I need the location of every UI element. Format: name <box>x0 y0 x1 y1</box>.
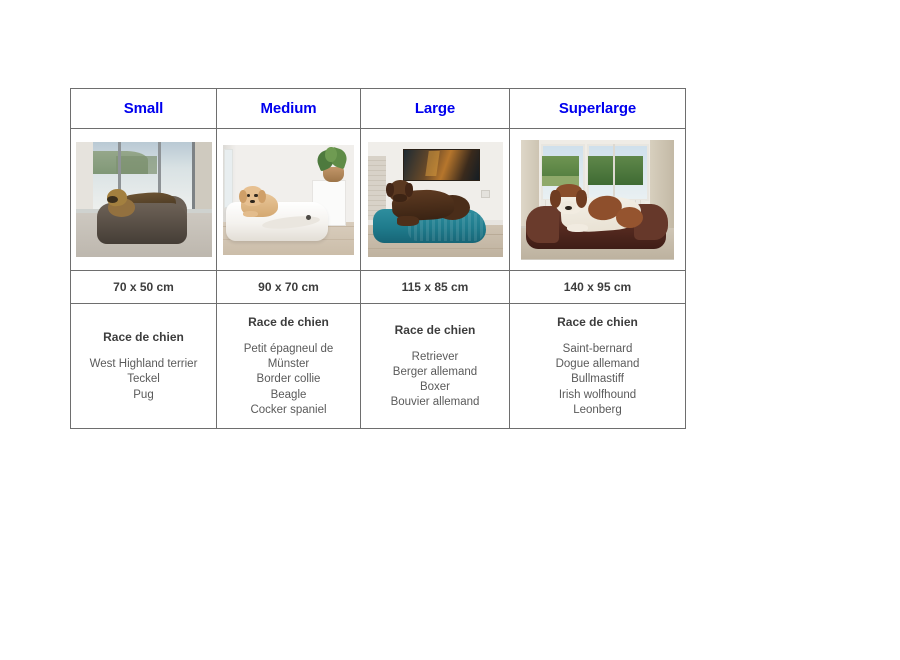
photo-row <box>71 129 686 271</box>
list-item: Beagle <box>221 388 356 403</box>
dimensions-row: 70 x 50 cm 90 x 70 cm 115 x 85 cm 140 x … <box>71 271 686 304</box>
breed-list-small: West Highland terrier Teckel Pug <box>75 357 212 403</box>
list-item: Retriever <box>365 350 505 365</box>
breed-cell-large: Race de chien Retriever Berger allemand … <box>361 304 510 429</box>
photo-cell-small <box>71 129 217 271</box>
medium-dog-bed-photo <box>223 145 354 255</box>
breed-cell-superlarge: Race de chien Saint-bernard Dogue allema… <box>510 304 686 429</box>
size-label-small: Small <box>71 101 216 116</box>
breed-heading-medium: Race de chien <box>221 316 356 328</box>
list-item: Dogue allemand <box>514 357 681 372</box>
list-item: Saint-bernard <box>514 342 681 357</box>
large-dog-bed-photo <box>368 142 503 257</box>
list-item: Irish wolfhound <box>514 388 681 403</box>
superlarge-dog-bed-photo <box>521 140 674 260</box>
size-header-row: Small Medium Large Superlarge <box>71 89 686 129</box>
dimension-large: 115 x 85 cm <box>361 281 509 293</box>
size-label-superlarge: Superlarge <box>510 101 685 116</box>
list-item: West Highland terrier <box>75 357 212 372</box>
breed-list-superlarge: Saint-bernard Dogue allemand Bullmastiff… <box>514 342 681 418</box>
list-item: Bouvier allemand <box>365 395 505 410</box>
dimension-cell-large: 115 x 85 cm <box>361 271 510 304</box>
dimension-small: 70 x 50 cm <box>71 281 216 293</box>
size-label-large: Large <box>361 101 509 116</box>
small-dog-bed-photo <box>76 142 212 257</box>
breed-heading-superlarge: Race de chien <box>514 316 681 328</box>
list-item: Leonberg <box>514 403 681 418</box>
breed-heading-small: Race de chien <box>75 331 212 343</box>
dimension-medium: 90 x 70 cm <box>217 281 360 293</box>
list-item: Border collie <box>221 372 356 387</box>
list-item: Boxer <box>365 380 505 395</box>
breed-cell-small: Race de chien West Highland terrier Teck… <box>71 304 217 429</box>
photo-cell-superlarge <box>510 129 686 271</box>
dimension-superlarge: 140 x 95 cm <box>510 281 685 293</box>
list-item: Bullmastiff <box>514 372 681 387</box>
dimension-cell-small: 70 x 50 cm <box>71 271 217 304</box>
header-cell-small: Small <box>71 89 217 129</box>
dog-bed-size-table: Small Medium Large Superlarge <box>70 88 686 429</box>
list-item: Petit épagneul de <box>221 342 356 357</box>
breed-list-medium: Petit épagneul de Münster Border collie … <box>221 342 356 418</box>
breed-heading-large: Race de chien <box>365 324 505 336</box>
photo-cell-medium <box>217 129 361 271</box>
list-item: Pug <box>75 388 212 403</box>
dimension-cell-medium: 90 x 70 cm <box>217 271 361 304</box>
breed-list-large: Retriever Berger allemand Boxer Bouvier … <box>365 350 505 411</box>
header-cell-large: Large <box>361 89 510 129</box>
breeds-row: Race de chien West Highland terrier Teck… <box>71 304 686 429</box>
dimension-cell-superlarge: 140 x 95 cm <box>510 271 686 304</box>
header-cell-medium: Medium <box>217 89 361 129</box>
list-item: Münster <box>221 357 356 372</box>
list-item: Berger allemand <box>365 365 505 380</box>
breed-cell-medium: Race de chien Petit épagneul de Münster … <box>217 304 361 429</box>
list-item: Teckel <box>75 372 212 387</box>
photo-cell-large <box>361 129 510 271</box>
size-label-medium: Medium <box>217 101 360 116</box>
header-cell-superlarge: Superlarge <box>510 89 686 129</box>
list-item: Cocker spaniel <box>221 403 356 418</box>
